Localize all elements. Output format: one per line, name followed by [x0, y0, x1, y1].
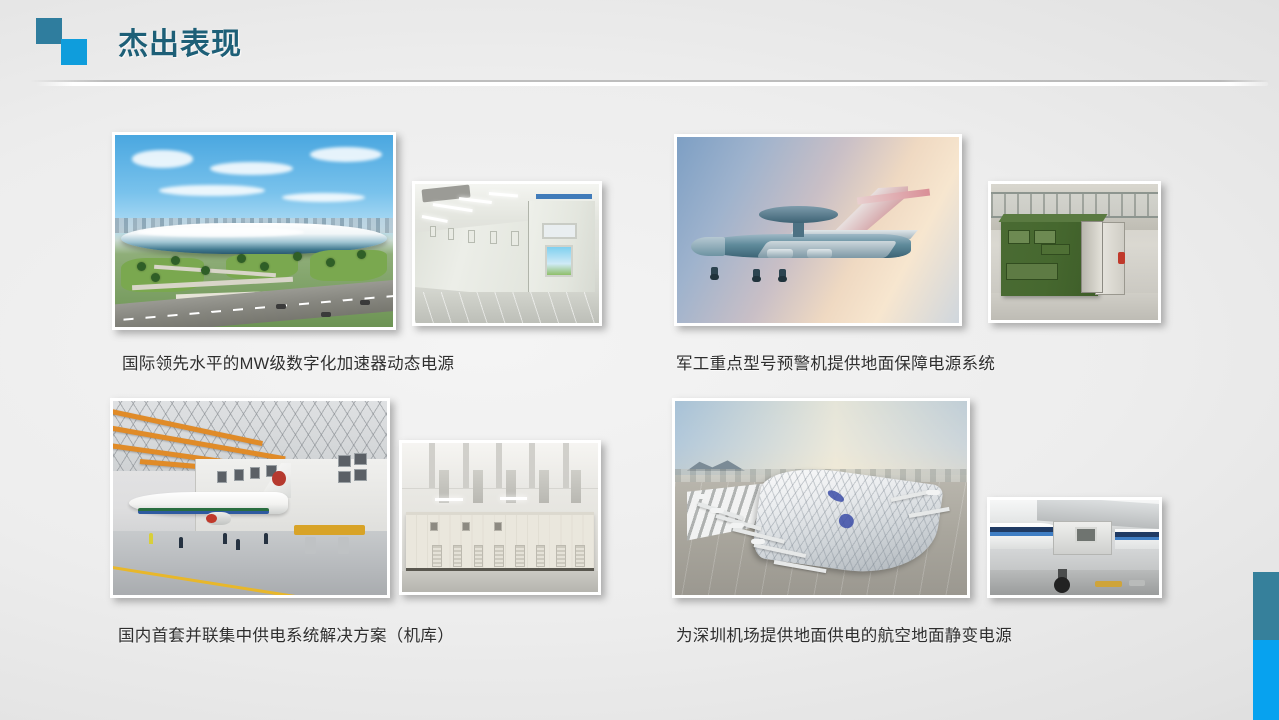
edge-accent-bar-top — [1253, 572, 1279, 640]
photo-stadium-aerial[interactable] — [112, 132, 396, 330]
caption-hangar: 国内首套并联集中供电系统解决方案（机库） — [118, 622, 454, 646]
logo-square-dark-icon — [36, 18, 62, 44]
photo-green-shelter-unit[interactable] — [988, 181, 1161, 323]
slide-canvas: 杰出表现 — [0, 0, 1279, 720]
page-title: 杰出表现 — [118, 19, 242, 63]
photo-power-cabinet-corridor[interactable] — [412, 181, 602, 326]
photo-parallel-power-cabinets[interactable] — [399, 440, 601, 595]
header-divider — [36, 82, 1268, 86]
edge-accent-bar-bottom — [1253, 640, 1279, 720]
logo-square-blue-icon — [61, 39, 87, 65]
photo-awacs-aircraft[interactable] — [674, 134, 962, 326]
caption-accelerator: 国际领先水平的MW级数字化加速器动态电源 — [122, 350, 454, 374]
caption-awacs: 军工重点型号预警机提供地面保障电源系统 — [676, 350, 995, 374]
photo-aircraft-ground-power[interactable] — [987, 497, 1162, 598]
photo-aircraft-hangar[interactable] — [110, 398, 390, 598]
photo-shenzhen-terminal[interactable] — [672, 398, 970, 598]
caption-shenzhen-airport: 为深圳机场提供地面供电的航空地面静变电源 — [676, 622, 1012, 646]
